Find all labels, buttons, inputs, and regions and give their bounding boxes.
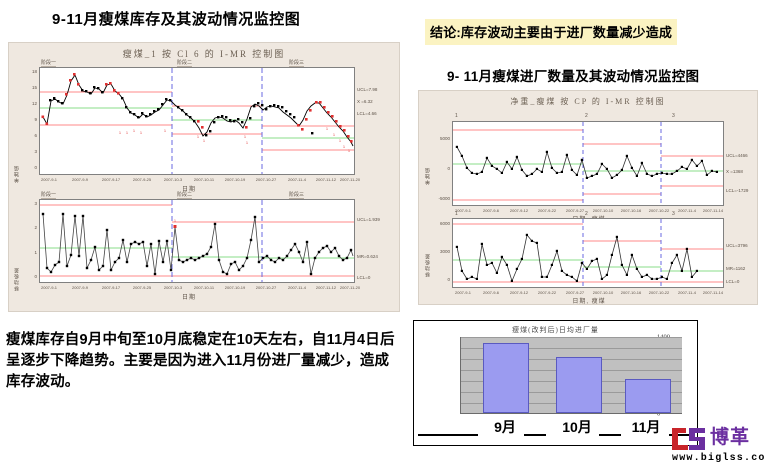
stock-mr-xtick-10: 2007-11-20 <box>340 285 360 290</box>
intake-mr-xtick-0: 2007-9-1 <box>455 290 471 295</box>
svg-text:1: 1 <box>203 139 205 143</box>
stock-i-xtick-2: 2007-9-17 <box>102 177 120 182</box>
intake-mr-stage-3: 3 <box>672 211 675 217</box>
stock-mr-xtick-5: 2007-10-11 <box>194 285 214 290</box>
bar-oct <box>556 357 602 413</box>
stock-mr-ytick-2: 1 <box>23 250 37 255</box>
stock-i-ytick-5: 3 <box>23 149 37 154</box>
stock-mr-stage-3: 阶段三 <box>289 191 304 199</box>
conclusion-banner: 结论:库存波动主要由于进厂数量减少造成 <box>425 19 677 45</box>
intake-mr-ylabel: 移动极差 <box>424 231 431 277</box>
stock-mr-xtick-4: 2007-10-3 <box>164 285 182 290</box>
slide-root: 9-11月瘦煤库存及其波动情况监控图 瘦煤_1 按 Cl 6 的 I-MR 控制… <box>0 0 764 469</box>
intake-i-xtick-6: 2007-10-16 <box>621 208 641 213</box>
intake-mr-stage-1: 1 <box>455 211 458 217</box>
intake-i-ytick-2: -5000 <box>432 196 450 201</box>
intake-i-ylabel: 单独值 <box>424 139 431 185</box>
stock-mr-ytick-3: 0 <box>23 274 37 279</box>
intake-individuals-svg <box>453 122 723 205</box>
intake-mr-xtick-3: 2007-9-22 <box>538 290 556 295</box>
stock-i-ylabel: 单独值 <box>13 123 20 183</box>
stock-mr-xtick-7: 2007-10-27 <box>256 285 276 290</box>
stock-i-ucl-label: UCL=7.98 <box>357 87 377 92</box>
intake-i-xtick-3: 2007-9-22 <box>538 208 556 213</box>
svg-text:1: 1 <box>119 131 121 135</box>
intake-i-xtick-7: 2007-10-22 <box>649 208 669 213</box>
stock-i-center-label: X =6.32 <box>357 99 373 104</box>
intake-chart-title: 净重_瘦煤 按 CP 的 I-MR 控制图 <box>419 91 757 107</box>
svg-text:1: 1 <box>339 139 341 143</box>
stock-mr-xtick-3: 2007-9-25 <box>133 285 151 290</box>
stock-i-xtick-8: 2007-11-4 <box>288 177 306 182</box>
stock-mr-xlabel: 日期 <box>159 292 219 301</box>
intake-mr-stage-2: 2 <box>585 211 588 217</box>
intake-mr-xtick-2: 2007-9-12 <box>510 290 528 295</box>
stock-individuals-svg: 1111 111 11 111 11 <box>40 68 354 174</box>
stock-mr-xtick-9: 2007-11-12 <box>316 285 336 290</box>
svg-text:1: 1 <box>348 149 350 153</box>
page-title-left: 9-11月瘦煤库存及其波动情况监控图 <box>52 8 300 29</box>
intake-mr-ytick-2: 0 <box>432 277 450 282</box>
intake-i-ytick-0: 5000 <box>432 136 450 141</box>
intake-i-stage-2: 2 <box>585 113 588 119</box>
svg-text:1: 1 <box>133 129 135 133</box>
bar-nov <box>625 379 671 413</box>
intake-mr-ytick-0: 6000 <box>432 221 450 226</box>
intake-moving-range-svg <box>453 219 723 287</box>
intake-mr-xtick-7: 2007-10-22 <box>649 290 669 295</box>
brand-logo: 博革 www.biglss.com <box>672 424 762 468</box>
logo-url: www.biglss.com <box>672 453 764 464</box>
biglss-logo-mark-icon <box>672 426 708 452</box>
gridline-1400 <box>461 337 682 338</box>
intake-i-xtick-4: 2007-9-27 <box>566 208 584 213</box>
stock-control-chart-panel: 瘦煤_1 按 Cl 6 的 I-MR 控制图 单独值 18 15 12 9 6 … <box>8 42 400 312</box>
stock-i-xtick-10: 2007-11-20 <box>340 177 360 182</box>
stock-i-xtick-6: 2007-10-19 <box>225 177 245 182</box>
page-title-right: 9- 11月瘦煤进厂数量及其波动情况监控图 <box>447 65 699 85</box>
intake-mr-xtick-9: 2007-11-14 <box>703 290 723 295</box>
underline-1 <box>418 434 478 436</box>
stock-mr-xtick-2: 2007-9-17 <box>102 285 120 290</box>
stock-mr-ytick-0: 3 <box>23 201 37 206</box>
intake-i-lcl-label: LCL=-1729 <box>726 188 748 193</box>
bar-xtick-oct: 10月 <box>562 417 592 437</box>
stock-i-stage-1: 阶段一 <box>41 59 56 67</box>
stock-individuals-plot: 1111 111 11 111 11 <box>39 67 355 175</box>
stock-moving-range-plot: 1 <box>39 199 355 283</box>
intake-moving-range-plot <box>452 218 724 288</box>
stock-i-stage-2: 阶段二 <box>177 59 192 67</box>
stock-mr-stage-2: 阶段二 <box>177 191 192 199</box>
intake-i-ucl-label: UCL=4466 <box>726 153 748 158</box>
daily-intake-bar-chart-panel: 瘦煤(改判后)日均进厂量 1400 1200 1000 800 600 400 … <box>413 320 698 446</box>
stock-chart-title: 瘦煤_1 按 Cl 6 的 I-MR 控制图 <box>9 43 399 60</box>
stock-i-xtick-1: 2007-9-9 <box>72 177 88 182</box>
intake-mr-xtick-8: 2007-11-4 <box>678 290 696 295</box>
svg-text:1: 1 <box>343 145 345 149</box>
intake-mr-lcl-label: LCL=0 <box>726 279 739 284</box>
svg-text:1: 1 <box>174 219 176 223</box>
intake-mr-xtick-1: 2007-9-6 <box>483 290 499 295</box>
svg-text:1: 1 <box>197 135 199 139</box>
svg-text:1: 1 <box>126 131 128 135</box>
bar-chart-title: 瘦煤(改判后)日均进厂量 <box>414 325 697 335</box>
stock-i-ytick-1: 15 <box>23 85 37 90</box>
stock-mr-lcl-label: LCL=0 <box>357 275 370 280</box>
intake-i-center-label: X =1368 <box>726 169 743 174</box>
stock-i-xtick-7: 2007-10-27 <box>256 177 276 182</box>
intake-i-xtick-9: 2007-11-14 <box>703 208 723 213</box>
intake-mr-ytick-1: 3000 <box>432 249 450 254</box>
intake-i-xtick-2: 2007-9-12 <box>510 208 528 213</box>
intake-i-xtick-8: 2007-11-4 <box>678 208 696 213</box>
bar-sep <box>483 343 529 413</box>
stock-mr-xtick-1: 2007-9-9 <box>72 285 88 290</box>
svg-text:1: 1 <box>333 133 335 137</box>
stock-mr-xtick-0: 2007-9-1 <box>41 285 57 290</box>
underline-3 <box>599 434 621 436</box>
stock-i-xtick-0: 2007-9-1 <box>41 177 57 182</box>
stock-i-ytick-2: 12 <box>23 101 37 106</box>
svg-text:1: 1 <box>244 135 246 139</box>
stock-mr-center-label: MR=0.624 <box>357 254 378 259</box>
svg-text:1: 1 <box>246 141 248 145</box>
stock-mr-xtick-6: 2007-10-19 <box>225 285 245 290</box>
svg-text:1: 1 <box>140 131 142 135</box>
stock-i-xtick-4: 2007-10-3 <box>164 177 182 182</box>
intake-mr-xtick-5: 2007-10-10 <box>593 290 613 295</box>
summary-text: 瘦煤库存自9月中旬至10月底稳定在10天左右，自11月4日后呈逐步下降趋势。主要… <box>6 330 398 393</box>
stock-i-xtick-5: 2007-10-11 <box>194 177 214 182</box>
logo-wordmark: 博革 <box>710 425 750 451</box>
bar-xtick-nov: 11月 <box>632 417 661 437</box>
intake-mr-xlabel: 日期, 瘦煤 <box>559 296 619 305</box>
intake-mr-ucl-label: UCL=3796 <box>726 243 748 248</box>
stock-i-xtick-9: 2007-11-12 <box>316 177 336 182</box>
intake-mr-xtick-4: 2007-9-27 <box>566 290 584 295</box>
stock-moving-range-svg: 1 <box>40 200 354 282</box>
stock-i-lcl-label: LCL=4.66 <box>357 111 377 116</box>
stock-i-ytick-3: 9 <box>23 117 37 122</box>
stock-mr-ylabel: 移动极差 <box>13 241 20 291</box>
intake-i-stage-3: 3 <box>672 113 675 119</box>
stock-i-ytick-4: 6 <box>23 133 37 138</box>
intake-i-stage-1: 1 <box>455 113 458 119</box>
intake-control-chart-panel: 净重_瘦煤 按 CP 的 I-MR 控制图 单独值 5000 0 -5000 1… <box>418 90 758 305</box>
stock-mr-stage-1: 阶段一 <box>41 191 56 199</box>
bar-plot-area <box>460 337 682 414</box>
intake-i-xtick-5: 2007-10-10 <box>593 208 613 213</box>
stock-mr-ucl-label: UCL=1.939 <box>357 217 380 222</box>
stock-i-ytick-0: 18 <box>23 69 37 74</box>
bar-xtick-sep: 9月 <box>494 417 516 437</box>
intake-i-xtick-1: 2007-9-6 <box>483 208 499 213</box>
stock-mr-ytick-1: 2 <box>23 225 37 230</box>
stock-mr-xtick-8: 2007-11-4 <box>288 285 306 290</box>
stock-i-ytick-6: 0 <box>23 165 37 170</box>
stock-i-xtick-3: 2007-9-25 <box>133 177 151 182</box>
svg-text:1: 1 <box>164 129 166 133</box>
intake-mr-xtick-6: 2007-10-16 <box>621 290 641 295</box>
stock-i-stage-3: 阶段三 <box>289 59 304 67</box>
intake-mr-center-label: MR=1162 <box>726 266 745 271</box>
svg-text:1: 1 <box>326 127 328 131</box>
intake-i-ytick-1: 0 <box>432 166 450 171</box>
underline-2 <box>524 434 546 436</box>
intake-individuals-plot <box>452 121 724 206</box>
